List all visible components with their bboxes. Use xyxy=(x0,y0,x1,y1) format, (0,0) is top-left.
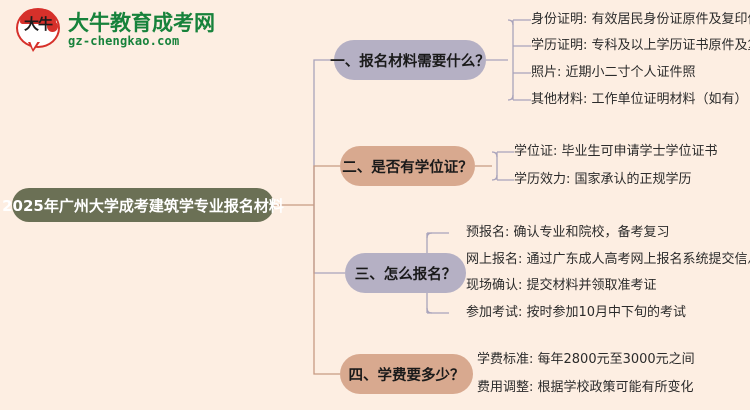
leaf-item[interactable]: 学位证: 毕业生可申请学士学位证书 xyxy=(514,144,718,160)
logo-domain: gz-chengkao.com xyxy=(68,35,215,48)
logo-mark-icon: 大牛 xyxy=(16,8,60,52)
leaf-item[interactable]: 学费标准: 每年2800元至3000元之间 xyxy=(477,352,695,368)
leaf-item[interactable]: 身份证明: 有效居民身份证原件及复印件 xyxy=(531,12,750,28)
root-node-label: 2025年广州大学成考建筑学专业报名材料 xyxy=(2,195,284,216)
leaf-item[interactable]: 学历证明: 专科及以上学历证书原件及复印件 xyxy=(531,38,750,54)
branch-node-1-label: 一、报名材料需要什么？ xyxy=(330,50,490,71)
logo-title: 大牛教育成考网 xyxy=(68,12,215,34)
leaf-item[interactable]: 学历效力: 国家承认的正规学历 xyxy=(514,172,692,188)
leaf-item[interactable]: 网上报名: 通过广东成人高考网上报名系统提交信息 xyxy=(466,252,750,268)
mindmap-canvas: 2025年广州大学成考建筑学专业报名材料 一、报名材料需要什么？ 身份证明: 有… xyxy=(0,0,750,410)
leaf-item[interactable]: 参加考试: 按时参加10月中下旬的考试 xyxy=(466,305,686,321)
speech-bubble-tail-icon xyxy=(28,42,40,52)
mindmap-root-node[interactable]: 2025年广州大学成考建筑学专业报名材料 xyxy=(12,188,274,222)
logo-text-block: 大牛教育成考网 gz-chengkao.com xyxy=(68,12,215,48)
branch-node-3-label: 三、怎么报名？ xyxy=(355,263,457,284)
leaf-item[interactable]: 费用调整: 根据学校政策可能有所变化 xyxy=(477,380,694,396)
leaf-item[interactable]: 照片: 近期小二寸个人证件照 xyxy=(531,65,696,81)
logo-mark-text: 大牛 xyxy=(16,17,60,32)
branch-node-3[interactable]: 三、怎么报名？ xyxy=(345,253,466,293)
branch-node-2[interactable]: 二、是否有学位证？ xyxy=(340,146,475,186)
leaf-item[interactable]: 现场确认: 提交材料并领取准考证 xyxy=(466,278,657,294)
site-logo[interactable]: 大牛 大牛教育成考网 gz-chengkao.com xyxy=(16,8,215,52)
leaf-item[interactable]: 其他材料: 工作单位证明材料（如有） xyxy=(531,92,748,108)
branch-node-4[interactable]: 四、学费要多少？ xyxy=(340,354,473,394)
branch-node-4-label: 四、学费要多少？ xyxy=(349,364,465,385)
branch-node-2-label: 二、是否有学位证？ xyxy=(342,156,473,177)
branch-node-1[interactable]: 一、报名材料需要什么？ xyxy=(334,40,486,80)
leaf-item[interactable]: 预报名: 确认专业和院校，备考复习 xyxy=(466,225,670,241)
